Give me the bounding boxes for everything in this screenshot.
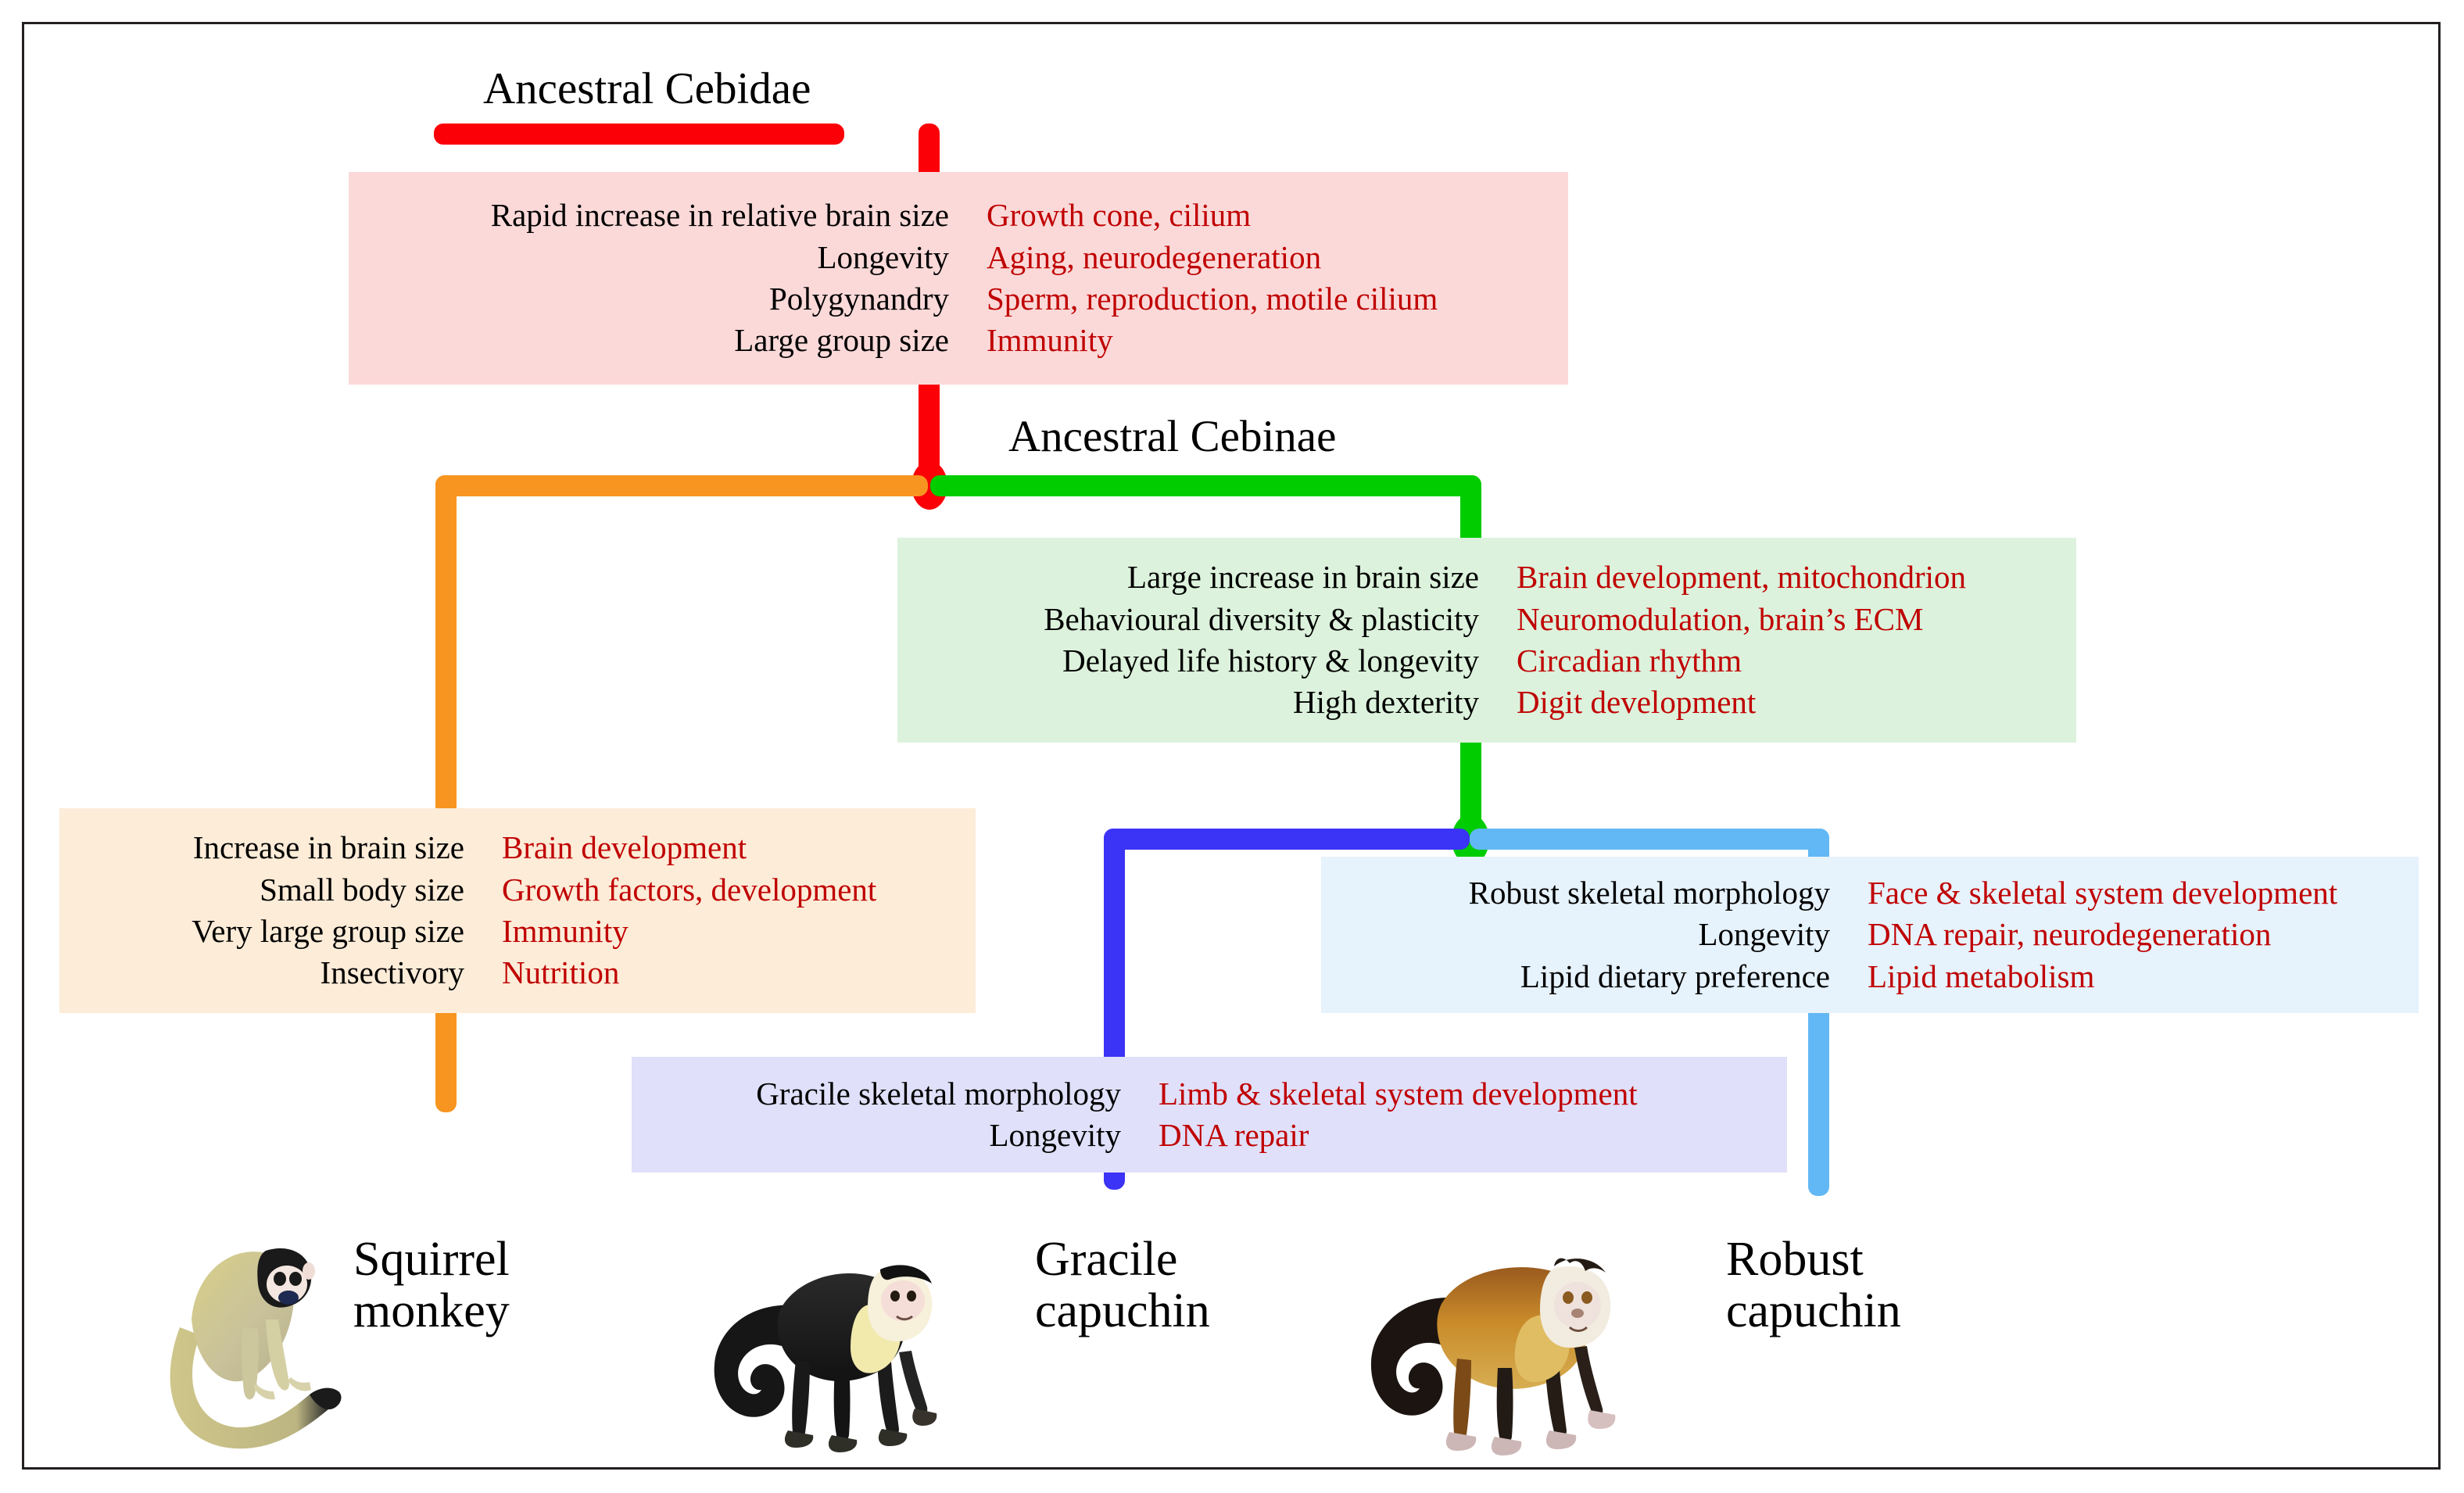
- function-item: Neuromodulation, brain’s ECM: [1517, 599, 2056, 640]
- trait-column-robust-functions: Face & skeletal system development DNA r…: [1847, 857, 2419, 1013]
- trait-item: Large increase in brain size: [918, 557, 1479, 598]
- trait-column-cebinae-traits: Large increase in brain size Behavioural…: [897, 538, 1496, 743]
- trait-column-squirrel-functions: Brain development Growth factors, develo…: [482, 808, 976, 1013]
- trait-item: High dexterity: [918, 682, 1479, 723]
- trait-item: Very large group size: [80, 911, 464, 952]
- trait-item: Large group size: [369, 320, 949, 361]
- branch-squirrel-vertical: [435, 475, 457, 1112]
- function-item: Limb & skeletal system development: [1159, 1073, 1767, 1115]
- trait-item: Lipid dietary preference: [1341, 956, 1830, 997]
- function-item: Aging, neurodegeneration: [987, 237, 1548, 278]
- function-item: Lipid metabolism: [1868, 956, 2398, 997]
- trait-column-cebidae-traits: Rapid increase in relative brain size Lo…: [349, 172, 966, 385]
- branch-squirrel-horizontal: [435, 475, 928, 496]
- trait-column-gracile-traits: Gracile skeletal morphology Longevity: [632, 1057, 1138, 1173]
- taxon-label-robust-capuchin: Robust capuchin: [1726, 1233, 1901, 1337]
- function-item: Immunity: [502, 911, 955, 952]
- function-item: DNA repair: [1159, 1115, 1767, 1156]
- function-item: Brain development: [502, 827, 955, 868]
- function-item: DNA repair, neurodegeneration: [1868, 914, 2398, 955]
- taxon-label-gracile-capuchin: Gracile capuchin: [1035, 1233, 1210, 1337]
- trait-item: Behavioural diversity & plasticity: [918, 599, 1479, 640]
- function-item: Circadian rhythm: [1517, 640, 2056, 682]
- trait-item: Robust skeletal morphology: [1341, 872, 1830, 914]
- trait-item: Increase in brain size: [80, 827, 464, 868]
- trait-box-gracile-capuchin: Gracile skeletal morphology Longevity Li…: [632, 1057, 1787, 1173]
- function-item: Growth factors, development: [502, 869, 955, 911]
- trait-item: Insectivory: [80, 952, 464, 994]
- robust-capuchin-illustration: [1360, 1219, 1642, 1470]
- trait-item: Delayed life history & longevity: [918, 640, 1479, 682]
- trait-item: Longevity: [369, 237, 949, 278]
- trait-item: Longevity: [652, 1115, 1121, 1156]
- trait-box-squirrel-monkey: Increase in brain size Small body size V…: [59, 808, 976, 1013]
- trait-box-robust-capuchin: Robust skeletal morphology Longevity Lip…: [1321, 857, 2419, 1013]
- trait-column-robust-traits: Robust skeletal morphology Longevity Lip…: [1321, 857, 1847, 1013]
- branch-cebidae-horizontal: [434, 124, 844, 145]
- trait-item: Rapid increase in relative brain size: [369, 195, 949, 236]
- trait-column-cebidae-functions: Growth cone, cilium Aging, neurodegenera…: [966, 172, 1568, 385]
- gracile-capuchin-illustration: [704, 1219, 969, 1470]
- trait-item: Gracile skeletal morphology: [652, 1073, 1121, 1115]
- trait-column-squirrel-traits: Increase in brain size Small body size V…: [59, 808, 482, 1013]
- branch-cebinae-horizontal: [930, 475, 1481, 496]
- function-item: Face & skeletal system development: [1868, 872, 2398, 914]
- taxon-label-squirrel-monkey: Squirrel monkey: [353, 1233, 510, 1337]
- function-item: Growth cone, cilium: [987, 195, 1548, 236]
- function-item: Digit development: [1517, 682, 2056, 723]
- function-item: Nutrition: [502, 952, 955, 994]
- trait-box-cebinae: Large increase in brain size Behavioural…: [897, 538, 2076, 743]
- branch-robust-horizontal: [1470, 829, 1829, 850]
- clade-title-ancestral-cebidae: Ancestral Cebidae: [483, 66, 811, 111]
- trait-box-cebidae: Rapid increase in relative brain size Lo…: [349, 172, 1568, 385]
- clade-title-ancestral-cebinae: Ancestral Cebinae: [1008, 414, 1336, 459]
- trait-item: Longevity: [1341, 914, 1830, 955]
- function-item: Immunity: [987, 320, 1548, 361]
- trait-item: Polygynandry: [369, 278, 949, 320]
- trait-column-cebinae-functions: Brain development, mitochondrion Neuromo…: [1496, 538, 2076, 743]
- figure-canvas: Ancestral Cebidae Ancestral Cebinae Rapi…: [0, 0, 2464, 1493]
- function-item: Brain development, mitochondrion: [1517, 557, 2056, 598]
- branch-gracile-horizontal: [1104, 829, 1470, 850]
- trait-column-gracile-functions: Limb & skeletal system development DNA r…: [1138, 1057, 1787, 1173]
- trait-item: Small body size: [80, 869, 464, 911]
- function-item: Sperm, reproduction, motile cilium: [987, 278, 1548, 320]
